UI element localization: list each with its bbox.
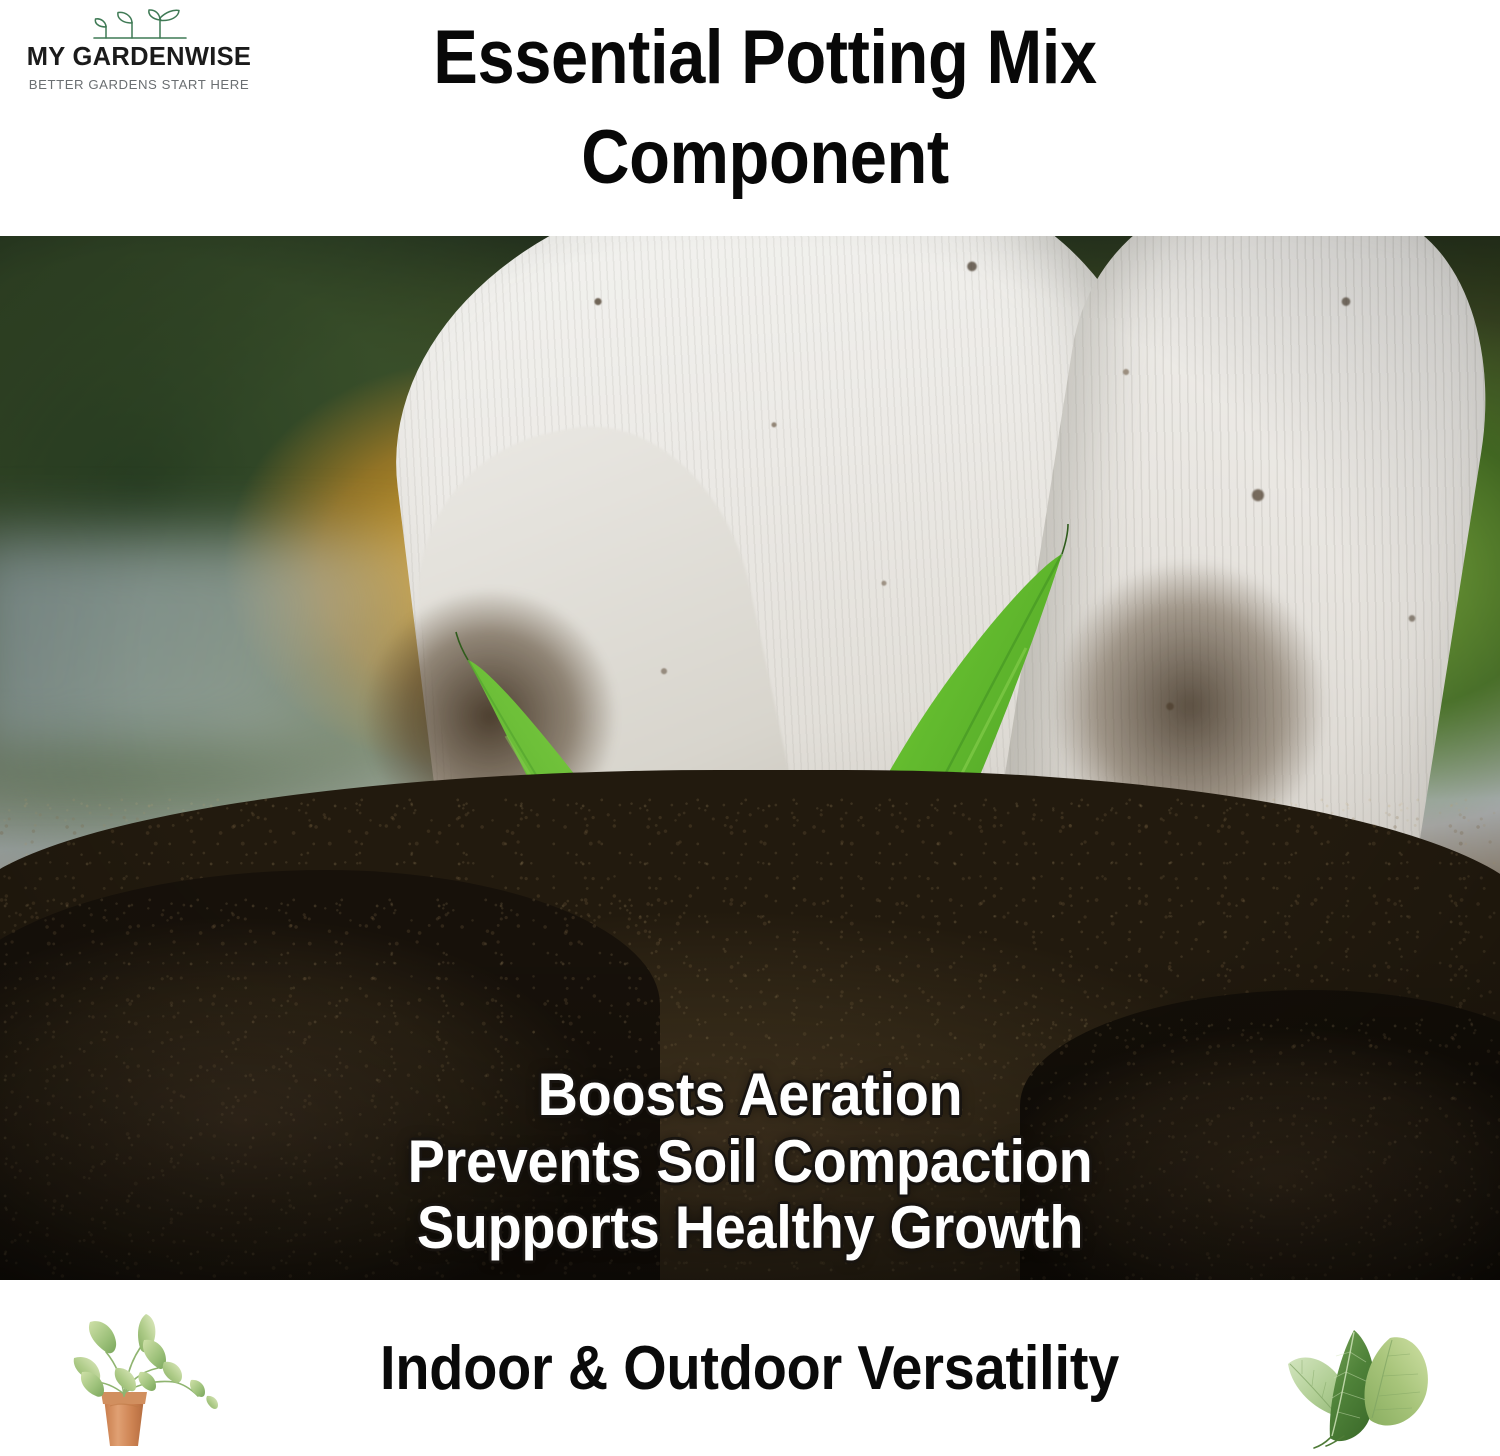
footer-title: Indoor & Outdoor Versatility: [380, 1333, 1119, 1404]
brand-logo[interactable]: MY GARDENWISE BETTER GARDENS START HERE: [14, 6, 264, 95]
three-sprouts-icon: [14, 6, 264, 44]
hero-photo: Boosts Aeration Prevents Soil Compaction…: [0, 236, 1500, 1280]
page-title: Essential Potting Mix Component: [325, 8, 1205, 209]
benefit-line-3: Supports Healthy Growth: [53, 1195, 1448, 1262]
leaf-trio-illustration: [1282, 1288, 1462, 1450]
product-infographic: MY GARDENWISE BETTER GARDENS START HERE …: [0, 0, 1500, 1456]
header-bar: MY GARDENWISE BETTER GARDENS START HERE …: [0, 0, 1500, 236]
brand-name: MY GARDENWISE: [14, 44, 264, 71]
benefit-line-2: Prevents Soil Compaction: [53, 1129, 1448, 1196]
brand-tagline: BETTER GARDENS START HERE: [14, 74, 264, 95]
benefit-line-1: Boosts Aeration: [53, 1062, 1448, 1129]
benefits-overlay: Boosts Aeration Prevents Soil Compaction…: [53, 1062, 1448, 1262]
potted-plant-illustration: [66, 1286, 246, 1452]
footer-bar: Indoor & Outdoor Versatility: [0, 1280, 1500, 1456]
